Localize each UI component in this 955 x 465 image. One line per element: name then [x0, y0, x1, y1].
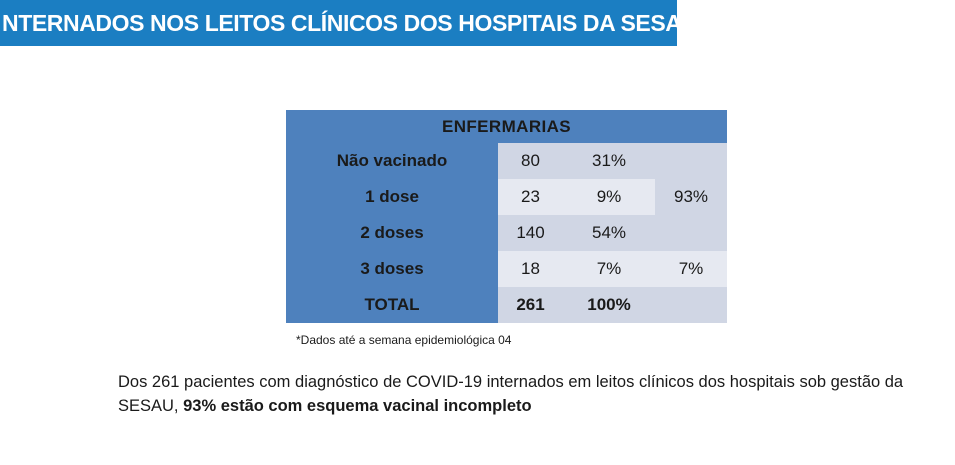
row-label-3-doses: 3 doses: [286, 251, 498, 287]
group-percent-incomplete: 93%: [655, 143, 727, 251]
row-label-nao-vacinado: Não vacinado: [286, 143, 498, 179]
row-percent-1-dose: 9%: [563, 179, 655, 215]
row-count-1-dose: 23: [498, 179, 563, 215]
row-label-1-dose: 1 dose: [286, 179, 498, 215]
table-footnote: *Dados até a semana epidemiológica 04: [296, 333, 511, 347]
table-row: TOTAL 261 100%: [286, 287, 727, 323]
enfermarias-table: ENFERMARIAS Não vacinado 80 31% 93% 1 do…: [286, 110, 727, 323]
table-row: Não vacinado 80 31% 93%: [286, 143, 727, 179]
row-percent-nao-vacinado: 31%: [563, 143, 655, 179]
summary-paragraph: Dos 261 pacientes com diagnóstico de COV…: [118, 371, 918, 419]
page-title: NTERNADOS NOS LEITOS CLÍNICOS DOS HOSPIT…: [2, 12, 698, 35]
row-label-total: TOTAL: [286, 287, 498, 323]
table-row: 3 doses 18 7% 7%: [286, 251, 727, 287]
group-cell-empty: [655, 287, 727, 323]
table-title-cell: ENFERMARIAS: [286, 110, 727, 143]
enfermarias-table-container: ENFERMARIAS Não vacinado 80 31% 93% 1 do…: [286, 110, 727, 323]
row-count-3-doses: 18: [498, 251, 563, 287]
row-label-2-doses: 2 doses: [286, 215, 498, 251]
row-count-nao-vacinado: 80: [498, 143, 563, 179]
row-count-2-doses: 140: [498, 215, 563, 251]
table-header-row: ENFERMARIAS: [286, 110, 727, 143]
page-header-banner: NTERNADOS NOS LEITOS CLÍNICOS DOS HOSPIT…: [0, 0, 677, 46]
group-percent-complete: 7%: [655, 251, 727, 287]
summary-text-bold: 93% estão com esquema vacinal incompleto: [183, 397, 531, 415]
row-percent-total: 100%: [563, 287, 655, 323]
row-percent-3-doses: 7%: [563, 251, 655, 287]
row-count-total: 261: [498, 287, 563, 323]
row-percent-2-doses: 54%: [563, 215, 655, 251]
